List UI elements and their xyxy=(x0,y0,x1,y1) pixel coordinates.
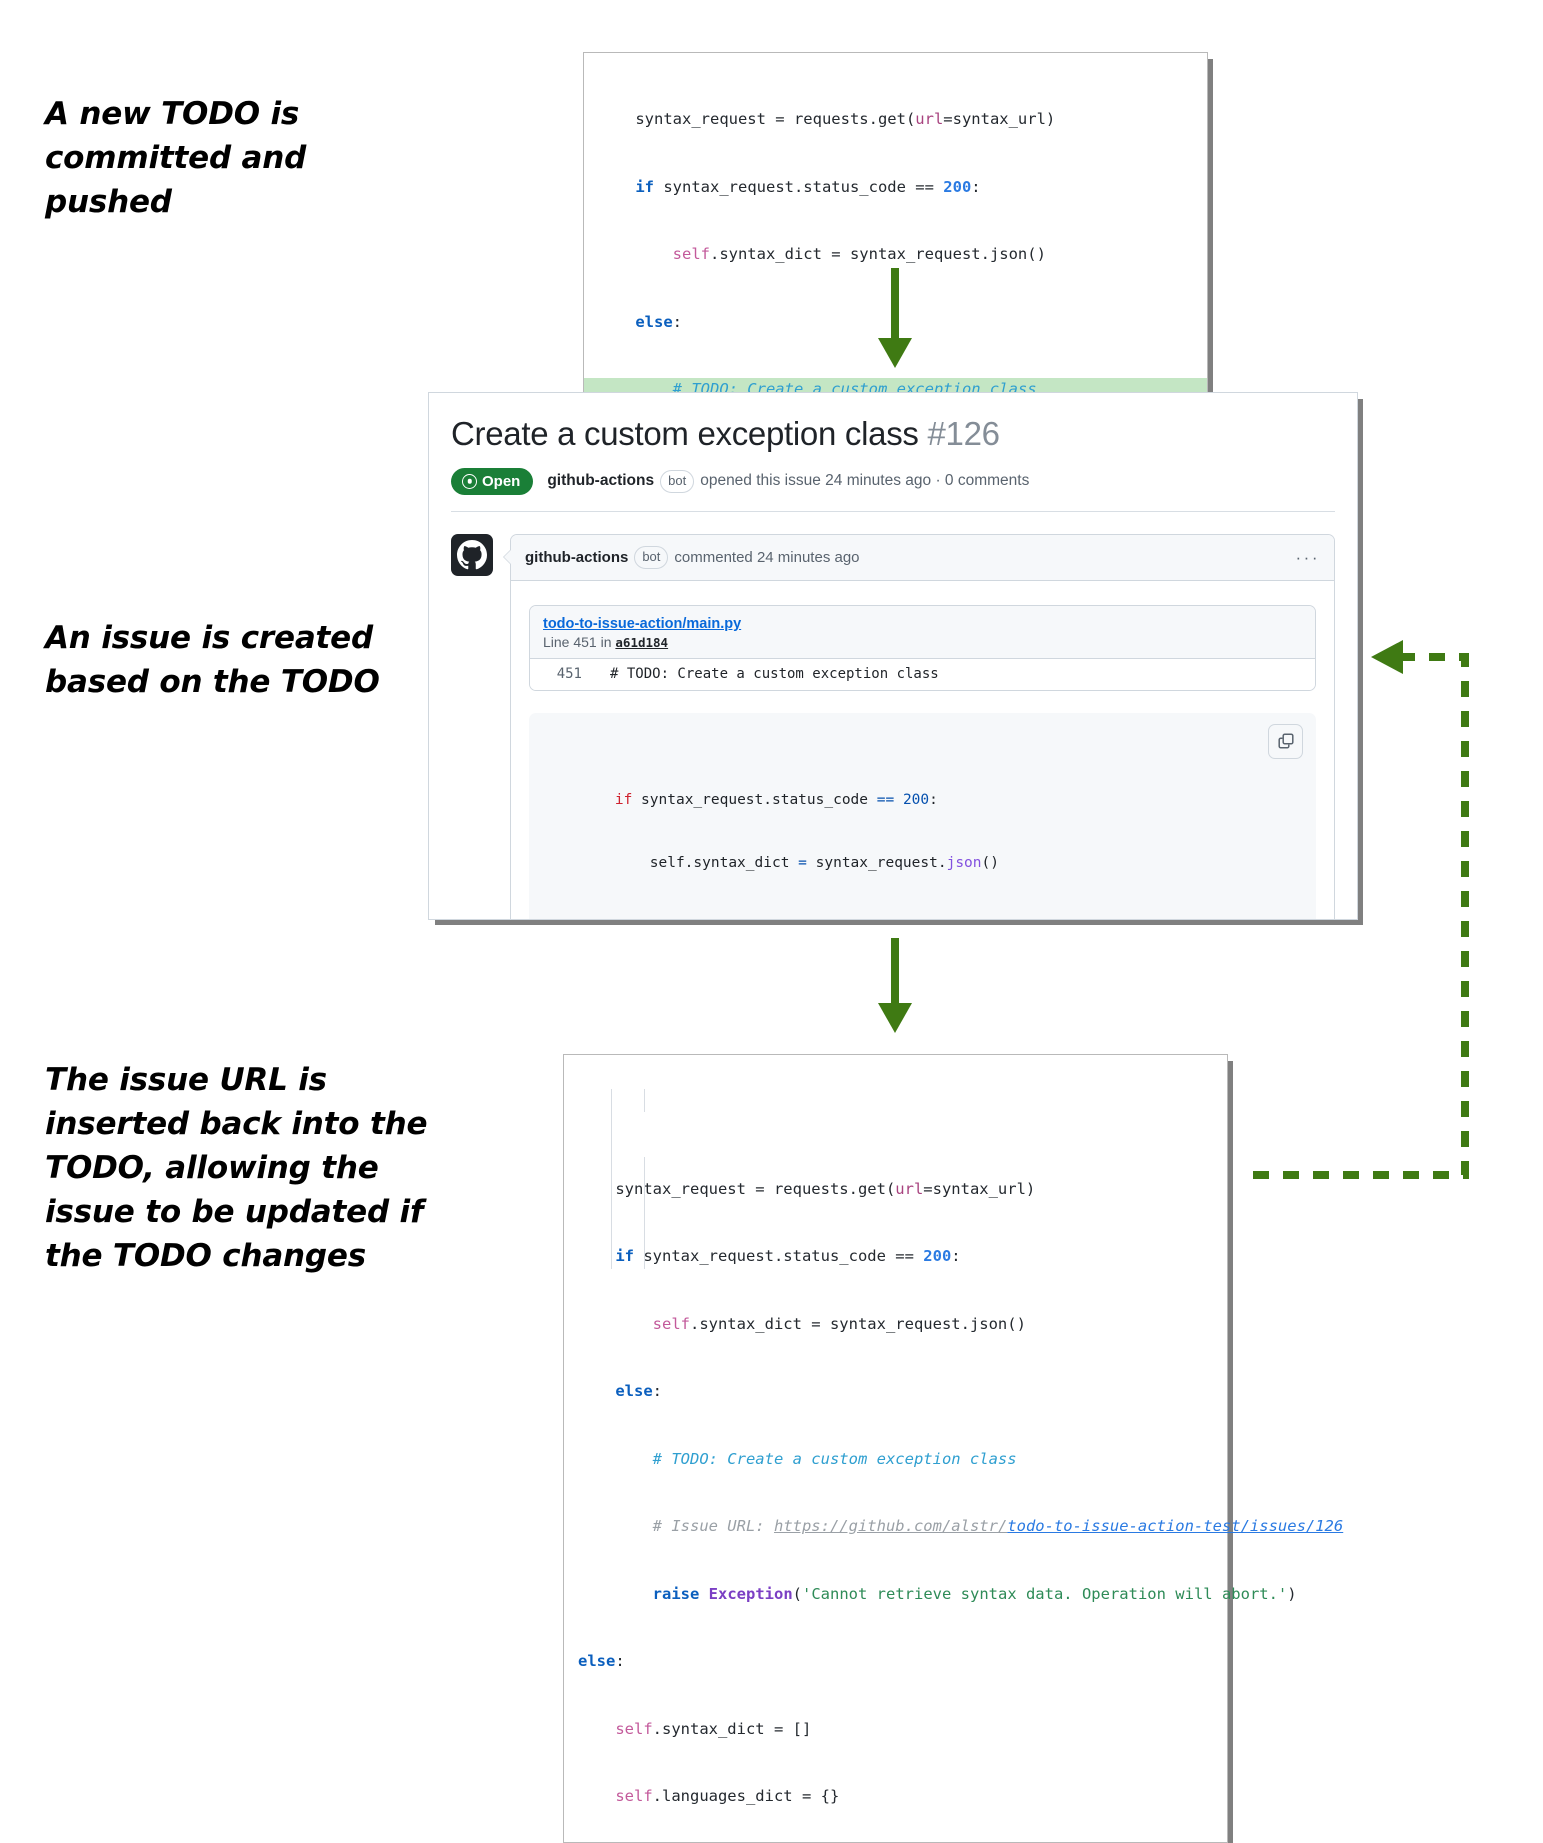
indent-guide xyxy=(611,1089,612,1269)
bot-badge: bot xyxy=(634,546,668,569)
github-issue-card: Create a custom exception class #126 Ope… xyxy=(428,392,1358,920)
code-line: self.languages_dict = {} xyxy=(564,1785,1227,1808)
snippet-line-prefix: Line 451 in xyxy=(543,634,615,650)
comment-header: github-actions bot commented 24 minutes … xyxy=(511,535,1334,581)
snippet-line-number: 451 xyxy=(530,666,592,682)
open-circle-icon xyxy=(462,474,477,489)
code-line: self.syntax_dict = syntax_request.json() xyxy=(564,1313,1227,1336)
code-line: else: xyxy=(564,1380,1227,1403)
comment-meta-text: commented 24 minutes ago xyxy=(674,549,859,566)
arrow-down-top-to-issue xyxy=(870,268,930,378)
code-line: if syntax_request.status_code == 200: xyxy=(564,1245,1227,1268)
code-line: if syntax_request.status_code == 200: xyxy=(584,176,1207,199)
caption-step-3: The issue URL is inserted back into the … xyxy=(45,1058,445,1278)
bottom-code-panel: syntax_request = requests.get(url=syntax… xyxy=(563,1054,1228,1843)
code-reference-card: todo-to-issue-action/main.py Line 451 in… xyxy=(529,605,1316,691)
code-line: syntax_request = requests.get(url=syntax… xyxy=(584,108,1207,131)
comment-box: github-actions bot commented 24 minutes … xyxy=(510,534,1335,920)
indent-guide xyxy=(644,1157,645,1269)
code-reference-header: todo-to-issue-action/main.py Line 451 in… xyxy=(530,606,1315,659)
code-line-todo: # TODO: Create a custom exception class xyxy=(564,1448,1227,1471)
snippet-code-text: # TODO: Create a custom exception class xyxy=(592,666,939,682)
snippet-file-link[interactable]: todo-to-issue-action/main.py xyxy=(543,616,741,632)
avatar[interactable] xyxy=(451,534,493,576)
issue-number: #126 xyxy=(927,415,999,452)
issue-header: Create a custom exception class #126 Ope… xyxy=(429,393,1357,495)
issue-meta-text: opened this issue 24 minutes ago · 0 com… xyxy=(700,472,1029,490)
comment-author[interactable]: github-actions xyxy=(525,549,628,566)
dashed-feedback-arrow xyxy=(1245,640,1485,1200)
snippet-commit-sha[interactable]: a61d184 xyxy=(615,635,668,650)
code-line: self.syntax_dict = syntax_request.json() xyxy=(529,853,1316,874)
issue-title-text: Create a custom exception class xyxy=(451,415,919,452)
code-line: if syntax_request.status_code == 200: xyxy=(529,790,1316,811)
status-badge-label: Open xyxy=(482,474,520,489)
kebab-menu-icon[interactable]: ··· xyxy=(1296,549,1320,566)
comment-body: todo-to-issue-action/main.py Line 451 in… xyxy=(511,581,1334,920)
code-line: self.syntax_dict = [] xyxy=(564,1718,1227,1741)
status-badge-open[interactable]: Open xyxy=(451,468,533,495)
code-sample-block: if syntax_request.status_code == 200: se… xyxy=(529,713,1316,920)
arrow-down-issue-to-bottom xyxy=(870,938,930,1043)
caption-step-1: A new TODO is committed and pushed xyxy=(45,92,375,224)
code-line-issue-url: # Issue URL: https://github.com/alstr/to… xyxy=(564,1515,1227,1538)
code-line: else: xyxy=(529,916,1316,920)
issue-author[interactable]: github-actions xyxy=(547,472,654,490)
snippet-line-info: Line 451 in a61d184 xyxy=(543,634,1302,650)
snippet-code-row: 451 # TODO: Create a custom exception cl… xyxy=(530,659,1315,690)
github-mark-icon xyxy=(457,540,487,570)
issue-meta-row: Open github-actions bot opened this issu… xyxy=(451,468,1357,495)
indent-guide xyxy=(644,1089,645,1112)
code-line: else: xyxy=(564,1650,1227,1673)
divider xyxy=(451,511,1335,512)
bot-badge: bot xyxy=(660,470,694,493)
code-line: raise Exception('Cannot retrieve syntax … xyxy=(564,1583,1227,1606)
code-line: self.syntax_dict = syntax_request.json() xyxy=(584,243,1207,266)
code-line: syntax_request = requests.get(url=syntax… xyxy=(564,1178,1227,1201)
issue-title: Create a custom exception class #126 xyxy=(451,415,1357,453)
caption-step-2: An issue is created based on the TODO xyxy=(45,616,405,704)
comment-wrapper: github-actions bot commented 24 minutes … xyxy=(451,534,1357,920)
